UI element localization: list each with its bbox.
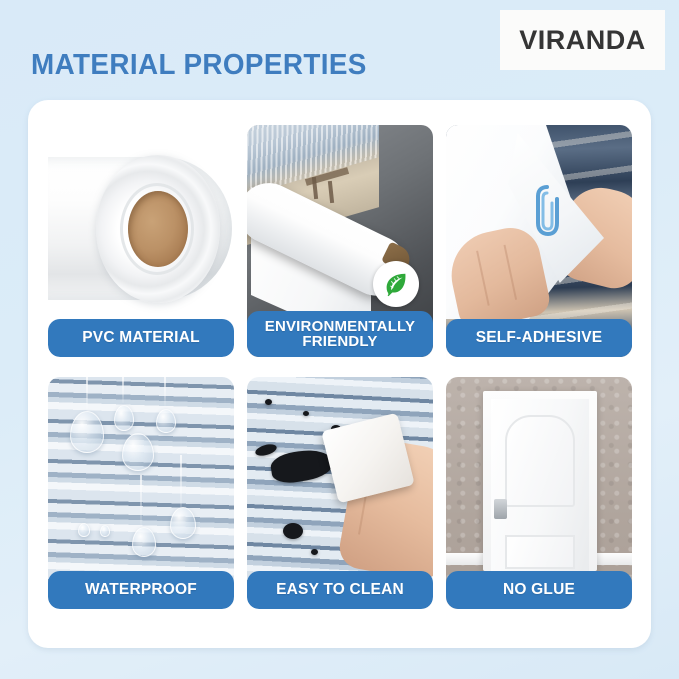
card-label-environmentally-friendly: ENVIRONMENTALLY FRIENDLY	[247, 311, 433, 357]
eco-badge	[373, 261, 419, 307]
card-label-no-glue: NO GLUE	[446, 571, 632, 609]
material-properties-poster: VIRANDA MATERIAL PROPERTIES PVC MATERIAL	[0, 0, 679, 679]
water-trail	[122, 377, 124, 403]
water-droplet	[78, 523, 90, 537]
feature-card-self-adhesive: SELF-ADHESIVE	[446, 125, 632, 357]
stain-spot	[254, 442, 278, 458]
stain-spot	[303, 411, 309, 416]
card-label-easy-to-clean: EASY TO CLEAN	[247, 571, 433, 609]
water-droplet	[70, 411, 104, 453]
stain-spot	[311, 549, 318, 555]
feature-card-pvc-material: PVC MATERIAL	[48, 125, 234, 357]
brand-name: VIRANDA	[519, 25, 646, 56]
feature-card-easy-to-clean: EASY TO CLEAN	[247, 377, 433, 609]
water-droplet	[114, 405, 134, 431]
water-droplet	[122, 433, 154, 471]
water-droplet	[156, 409, 176, 433]
feature-card-waterproof: WATERPROOF	[48, 377, 234, 609]
door-handle	[494, 499, 507, 519]
card-label-pvc-material: PVC MATERIAL	[48, 319, 234, 357]
stain-spot	[283, 523, 303, 539]
water-droplet	[100, 525, 110, 537]
stain-smear	[269, 446, 335, 485]
door-frame	[483, 391, 597, 571]
card-label-waterproof: WATERPROOF	[48, 571, 234, 609]
feature-card-environmentally-friendly: ENVIRONMENTALLY FRIENDLY	[247, 125, 433, 357]
water-trail	[164, 377, 166, 407]
water-trail	[86, 377, 88, 413]
water-trail	[180, 455, 182, 515]
page-title: MATERIAL PROPERTIES	[31, 49, 367, 82]
water-droplet	[170, 507, 196, 539]
paperclip-icon	[532, 183, 562, 239]
door	[491, 399, 589, 571]
water-trail	[140, 475, 142, 527]
leaf-icon	[381, 269, 411, 299]
water-droplet	[132, 527, 156, 557]
brand-logo: VIRANDA	[500, 10, 665, 70]
roll-core	[128, 191, 188, 267]
stain-spot	[265, 399, 272, 405]
door-panel-top	[505, 415, 575, 507]
card-label-self-adhesive: SELF-ADHESIVE	[446, 319, 632, 357]
feature-card-no-glue: NO GLUE	[446, 377, 632, 609]
feature-grid: PVC MATERIAL	[48, 125, 631, 630]
door-panel-bottom	[505, 535, 575, 569]
